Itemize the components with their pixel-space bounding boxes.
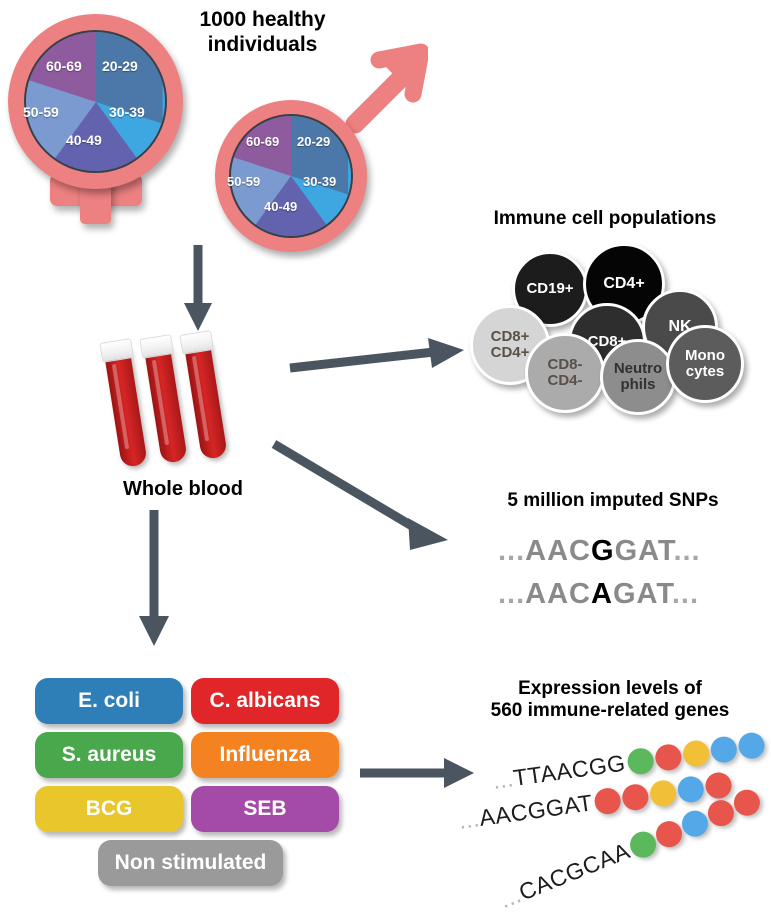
- female-age-pie-chart: [24, 30, 167, 173]
- expression-dot: [709, 734, 738, 763]
- stimulus-e-coli[interactable]: E. coli: [35, 678, 183, 724]
- blood-tube-body: [184, 339, 228, 460]
- expression-dot: [730, 785, 764, 819]
- expression-dot: [652, 817, 686, 851]
- snp-prefix: ...: [498, 578, 525, 610]
- expression-dot: [704, 796, 738, 830]
- blood-tube-body: [104, 347, 148, 468]
- pie-label-30-39: 30-39: [109, 104, 145, 120]
- strand-sequence: ...CACGCAA: [496, 837, 634, 914]
- expression-dot: [681, 738, 710, 767]
- cell-neutrophils: Neutrophils: [600, 339, 676, 415]
- stimulus-seb[interactable]: SEB: [191, 786, 339, 832]
- stimulus-non-stimulated[interactable]: Non stimulated: [98, 840, 283, 886]
- stimuli-panel: E. coli C. albicans S. aureus Influenza …: [35, 678, 345, 893]
- whole-blood-label: Whole blood: [88, 478, 278, 502]
- expression-title-line2: 560 immune-related genes: [491, 700, 730, 721]
- snp-left: AAC: [525, 578, 591, 610]
- cell-monocytes: Monocytes: [666, 325, 744, 403]
- whole-blood-group: [110, 340, 260, 480]
- cell-label: CD4+: [603, 276, 644, 293]
- snp-sequence-variant: ...AACAGAT...: [498, 578, 699, 611]
- cell-label: Neutrophils: [614, 361, 662, 392]
- stimulus-bcg[interactable]: BCG: [35, 786, 183, 832]
- strand-bases: TTAACGG: [512, 750, 627, 791]
- expression-dot: [648, 778, 677, 807]
- strand-sequence: ...AACGGAT: [457, 789, 594, 835]
- arrow-blood-to-snps: [270, 440, 465, 565]
- expression-dot: [621, 782, 650, 811]
- strand-bases: AACGGAT: [478, 789, 595, 831]
- pie-label-20-29: 20-29: [297, 134, 330, 149]
- strand-bases: CACGCAA: [515, 837, 633, 905]
- immune-title: Immune cell populations: [455, 208, 755, 230]
- stimulus-c-albicans[interactable]: C. albicans: [191, 678, 339, 724]
- expression-dot: [653, 742, 682, 771]
- pie-label-60-69: 60-69: [46, 58, 82, 74]
- stimulus-label: Influenza: [219, 743, 310, 767]
- cell-label: CD19+: [526, 281, 573, 297]
- snp-left: AAC: [525, 535, 591, 567]
- stimulus-label: S. aureus: [62, 743, 157, 767]
- expression-dot: [593, 786, 622, 815]
- stimulus-label: SEB: [243, 797, 286, 821]
- pie-label-50-59: 50-59: [227, 174, 260, 189]
- snp-variant-base: A: [591, 578, 613, 610]
- blood-tube-body: [144, 343, 188, 464]
- expression-dot: [676, 774, 705, 803]
- pie-label-50-59: 50-59: [23, 104, 59, 120]
- pie-label-20-29: 20-29: [102, 58, 138, 74]
- stimulus-label: C. albicans: [210, 689, 321, 713]
- stimulus-label: E. coli: [78, 689, 140, 713]
- male-gender-symbol: 20-29 30-39 40-49 50-59 60-69: [215, 75, 425, 255]
- cell-cd8-cd4-double-negative: CD8-CD4-: [525, 333, 605, 413]
- arrow-cohort-to-blood: [178, 245, 218, 335]
- arrow-blood-to-stimuli: [132, 510, 176, 650]
- expression-dot: [626, 746, 655, 775]
- figure-canvas: 1000 healthy individuals 20-29 30-39 40-…: [0, 0, 771, 922]
- snp-right: GAT: [615, 535, 674, 567]
- snp-prefix: ...: [498, 535, 525, 567]
- pie-label-30-39: 30-39: [303, 174, 336, 189]
- blood-tube: [184, 339, 228, 460]
- snp-variant-base: G: [591, 535, 615, 567]
- expression-dot: [678, 806, 712, 840]
- pie-label-60-69: 60-69: [246, 134, 279, 149]
- snp-suffix: ...: [672, 578, 699, 610]
- stimulus-s-aureus[interactable]: S. aureus: [35, 732, 183, 778]
- blood-tube: [104, 347, 148, 468]
- snp-suffix: ...: [673, 535, 700, 567]
- blood-tube: [144, 343, 188, 464]
- cell-label: CD8-CD4-: [547, 357, 582, 388]
- pie-label-40-49: 40-49: [66, 132, 102, 148]
- snps-title: 5 million imputed SNPs: [468, 490, 758, 512]
- expression-dot: [736, 731, 765, 760]
- stimulus-influenza[interactable]: Influenza: [191, 732, 339, 778]
- female-gender-symbol: 20-29 30-39 40-49 50-59 60-69: [8, 14, 193, 239]
- expression-title-line1: Expression levels of: [518, 678, 702, 699]
- expression-title: Expression levels of 560 immune-related …: [455, 678, 765, 723]
- stimulus-label: BCG: [86, 797, 133, 821]
- snp-right: GAT: [613, 578, 672, 610]
- cell-label: CD8+CD4+: [491, 329, 530, 360]
- pie-label-40-49: 40-49: [264, 199, 297, 214]
- snp-sequence-reference: ...AACGGAT...: [498, 535, 701, 568]
- expression-strand-group: ...TTAACGG ...AACGGAT ...CACGCAA: [455, 740, 771, 915]
- cell-label: Monocytes: [685, 348, 725, 379]
- immune-cell-cluster: CD19+ CD4+ CD8+CD4+ CD8+ NK CD8-CD4- Neu…: [470, 243, 760, 413]
- stimulus-label: Non stimulated: [115, 851, 267, 875]
- arrow-blood-to-immune: [288, 330, 468, 390]
